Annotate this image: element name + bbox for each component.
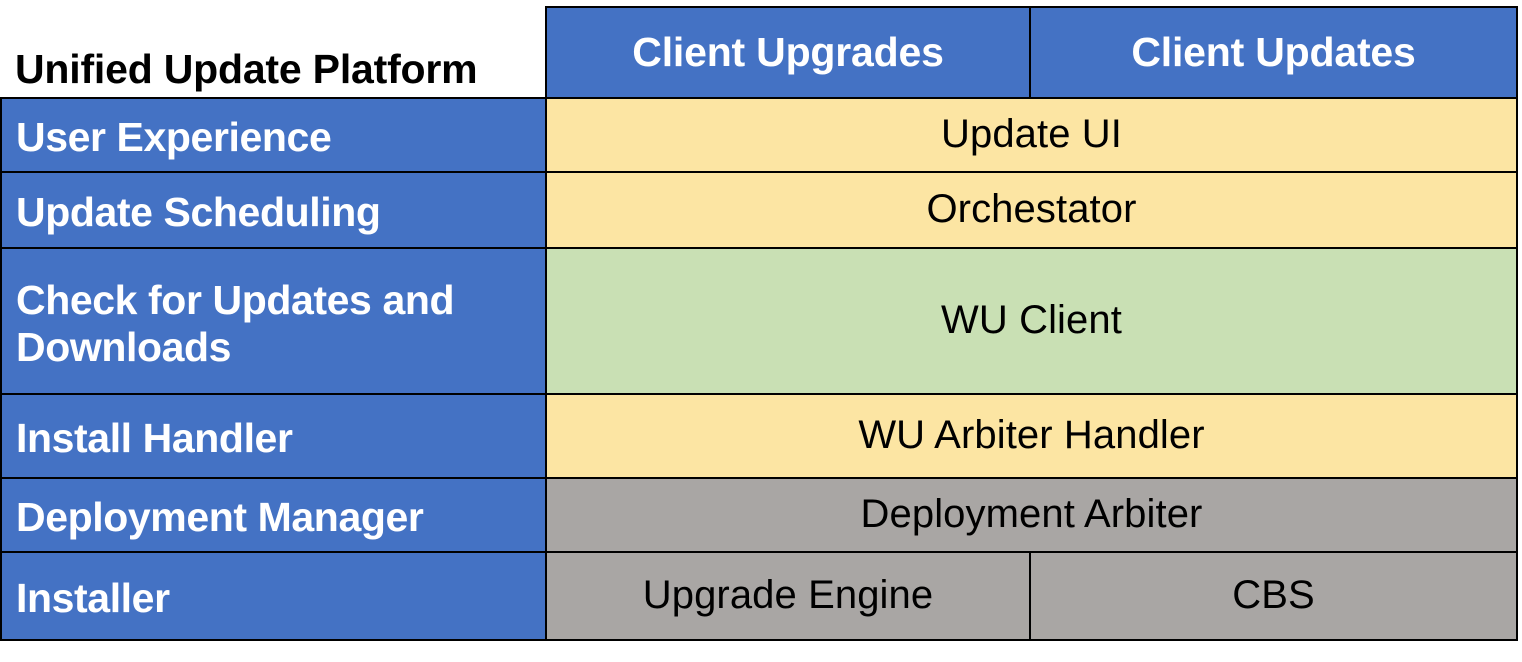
table-row: Install Handler WU Arbiter Handler xyxy=(1,394,1517,478)
row-label-text: Deployment Manager xyxy=(16,491,537,539)
row-label-text: Installer xyxy=(16,572,537,620)
row-label-check-for-updates-and-downloads: Check for Updates and Downloads xyxy=(1,248,546,394)
page-title: Unified Update Platform xyxy=(1,7,546,98)
column-header-client-upgrades: Client Upgrades xyxy=(546,7,1030,98)
cell-deployment-arbiter: Deployment Arbiter xyxy=(546,478,1517,552)
row-label-deployment-manager: Deployment Manager xyxy=(1,478,546,552)
column-header-client-updates: Client Updates xyxy=(1030,7,1517,98)
cell-orchestator: Orchestator xyxy=(546,172,1517,248)
row-label-install-handler: Install Handler xyxy=(1,394,546,478)
row-label-text: Update Scheduling xyxy=(16,186,537,234)
cell-update-ui: Update UI xyxy=(546,98,1517,172)
table-row: Update Scheduling Orchestator xyxy=(1,172,1517,248)
cell-wu-client: WU Client xyxy=(546,248,1517,394)
row-label-installer: Installer xyxy=(1,552,546,640)
table-row: Installer Upgrade Engine CBS xyxy=(1,552,1517,640)
table-row: User Experience Update UI xyxy=(1,98,1517,172)
table-header-row: Unified Update Platform Client Upgrades … xyxy=(1,7,1517,98)
cell-cbs: CBS xyxy=(1030,552,1517,640)
row-label-user-experience: User Experience xyxy=(1,98,546,172)
row-label-update-scheduling: Update Scheduling xyxy=(1,172,546,248)
cell-wu-arbiter-handler: WU Arbiter Handler xyxy=(546,394,1517,478)
table-row: Deployment Manager Deployment Arbiter xyxy=(1,478,1517,552)
row-label-text: User Experience xyxy=(16,111,537,159)
table-row: Check for Updates and Downloads WU Clien… xyxy=(1,248,1517,394)
row-label-text: Check for Updates and Downloads xyxy=(16,271,537,370)
cell-upgrade-engine: Upgrade Engine xyxy=(546,552,1030,640)
row-label-text: Install Handler xyxy=(16,412,537,460)
architecture-layer-table: Unified Update Platform Client Upgrades … xyxy=(0,6,1518,641)
unified-update-platform-table: Unified Update Platform Client Upgrades … xyxy=(0,6,1522,662)
